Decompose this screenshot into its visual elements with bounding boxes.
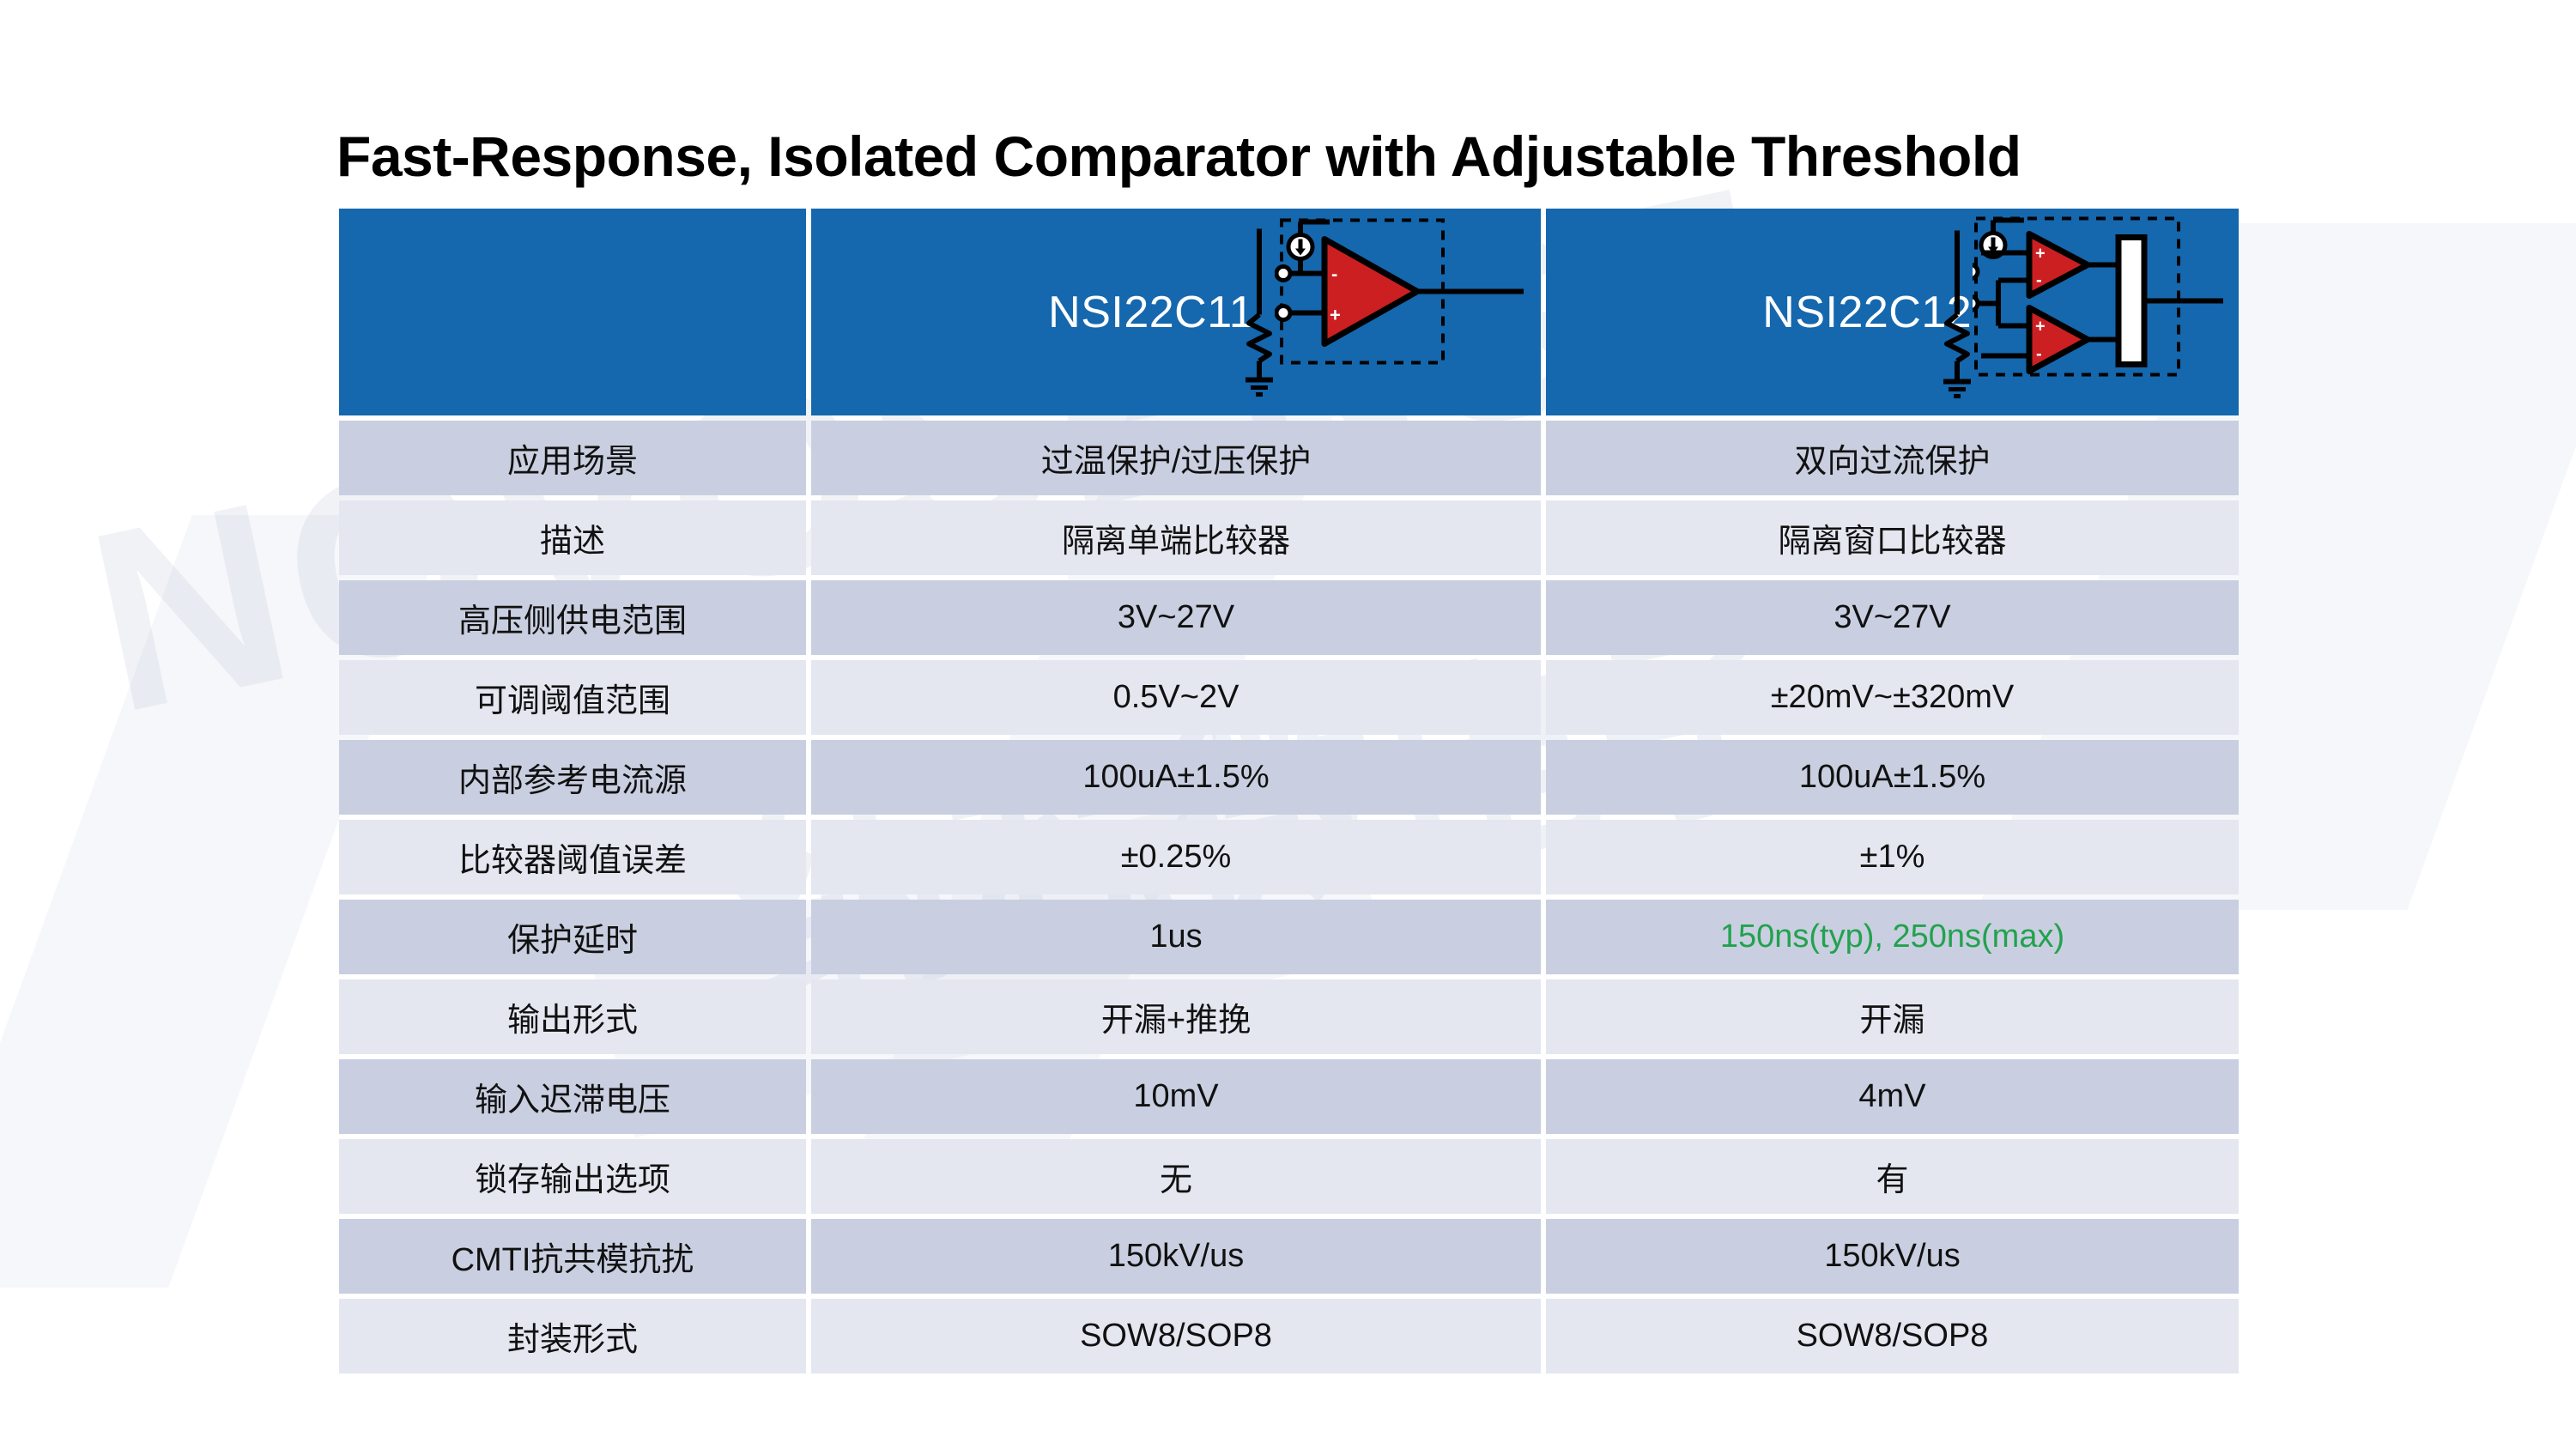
- row-label: 内部参考电流源: [339, 740, 806, 815]
- comparison-table: NSI22C11: [339, 209, 2239, 1379]
- product-name-nsi22c11: NSI22C11: [1048, 287, 1254, 338]
- cell-nsi22c12: 150kV/us: [1546, 1219, 2239, 1294]
- cell-nsi22c11: 10mV: [811, 1059, 1541, 1134]
- table-row: 可调阈值范围0.5V~2V±20mV~±320mV: [339, 660, 2239, 735]
- table-header-row: NSI22C11: [339, 209, 2239, 415]
- table-row: 输入迟滞电压10mV4mV: [339, 1059, 2239, 1134]
- row-label: 比较器阈值误差: [339, 820, 806, 894]
- cell-nsi22c11: 过温保护/过压保护: [811, 421, 1541, 495]
- cell-nsi22c11: 100uA±1.5%: [811, 740, 1541, 815]
- table-row: 输出形式开漏+推挽开漏: [339, 979, 2239, 1054]
- header-cell-blank: [339, 209, 806, 415]
- table-row: CMTI抗共模抗扰150kV/us150kV/us: [339, 1219, 2239, 1294]
- table-row: 描述隔离单端比较器隔离窗口比较器: [339, 500, 2239, 575]
- row-label: 封装形式: [339, 1299, 806, 1373]
- cell-nsi22c11: 隔离单端比较器: [811, 500, 1541, 575]
- table-row: 高压侧供电范围3V~27V3V~27V: [339, 580, 2239, 655]
- row-label: 可调阈值范围: [339, 660, 806, 735]
- row-label: 输出形式: [339, 979, 806, 1054]
- row-label: 保护延时: [339, 900, 806, 974]
- cell-nsi22c11: 无: [811, 1139, 1541, 1214]
- svg-text:-: -: [1331, 263, 1337, 284]
- svg-text:+: +: [1330, 304, 1341, 325]
- cell-nsi22c12: 3V~27V: [1546, 580, 2239, 655]
- cell-nsi22c12: 双向过流保护: [1546, 421, 2239, 495]
- header-cell-nsi22c12: NSI22C12: [1546, 209, 2239, 415]
- cell-nsi22c11: 0.5V~2V: [811, 660, 1541, 735]
- cell-nsi22c12: 开漏: [1546, 979, 2239, 1054]
- cell-nsi22c11: ±0.25%: [811, 820, 1541, 894]
- table-row: 应用场景过温保护/过压保护双向过流保护: [339, 421, 2239, 495]
- row-label: 输入迟滞电压: [339, 1059, 806, 1134]
- cell-nsi22c12: ±20mV~±320mV: [1546, 660, 2239, 735]
- cell-nsi22c11: 3V~27V: [811, 580, 1541, 655]
- header-cell-nsi22c11: NSI22C11: [811, 209, 1541, 415]
- cell-nsi22c12: 150ns(typ), 250ns(max): [1546, 900, 2239, 974]
- svg-text:+: +: [2035, 244, 2046, 263]
- table-row: 保护延时1us150ns(typ), 250ns(max): [339, 900, 2239, 974]
- row-label: 应用场景: [339, 421, 806, 495]
- cell-nsi22c11: 1us: [811, 900, 1541, 974]
- row-label: 高压侧供电范围: [339, 580, 806, 655]
- cell-nsi22c11: 150kV/us: [811, 1219, 1541, 1294]
- cell-nsi22c12: 4mV: [1546, 1059, 2239, 1134]
- cell-nsi22c12: 隔离窗口比较器: [1546, 500, 2239, 575]
- row-label: CMTI抗共模抗扰: [339, 1219, 806, 1294]
- cell-nsi22c12: 100uA±1.5%: [1546, 740, 2239, 815]
- cell-nsi22c11: SOW8/SOP8: [811, 1299, 1541, 1373]
- svg-text:+: +: [2035, 317, 2046, 336]
- page-title: Fast-Response, Isolated Comparator with …: [336, 124, 2021, 189]
- resistor-ground-icon: [1233, 211, 1285, 413]
- svg-text:-: -: [2036, 344, 2042, 363]
- cell-nsi22c12: 有: [1546, 1139, 2239, 1214]
- row-label: 描述: [339, 500, 806, 575]
- cell-nsi22c12: ±1%: [1546, 820, 2239, 894]
- cell-nsi22c12: SOW8/SOP8: [1546, 1299, 2239, 1373]
- window-comparator-circuit-icon: + - + -: [1973, 211, 2230, 413]
- slide-page: NOVOSENSE 纳芯微电子 Fast-Response, Isolated …: [0, 0, 2576, 1449]
- table-row: 内部参考电流源100uA±1.5%100uA±1.5%: [339, 740, 2239, 815]
- table-row: 锁存输出选项无有: [339, 1139, 2239, 1214]
- table-row: 比较器阈值误差±0.25%±1%: [339, 820, 2239, 894]
- cell-nsi22c11: 开漏+推挽: [811, 979, 1541, 1054]
- table-body: 应用场景过温保护/过压保护双向过流保护描述隔离单端比较器隔离窗口比较器高压侧供电…: [339, 421, 2239, 1373]
- row-label: 锁存输出选项: [339, 1139, 806, 1214]
- single-comparator-circuit-icon: - +: [1275, 211, 1532, 413]
- resistor-ground-icon: [1931, 211, 1983, 413]
- svg-text:-: -: [2036, 270, 2042, 289]
- table-row: 封装形式SOW8/SOP8SOW8/SOP8: [339, 1299, 2239, 1373]
